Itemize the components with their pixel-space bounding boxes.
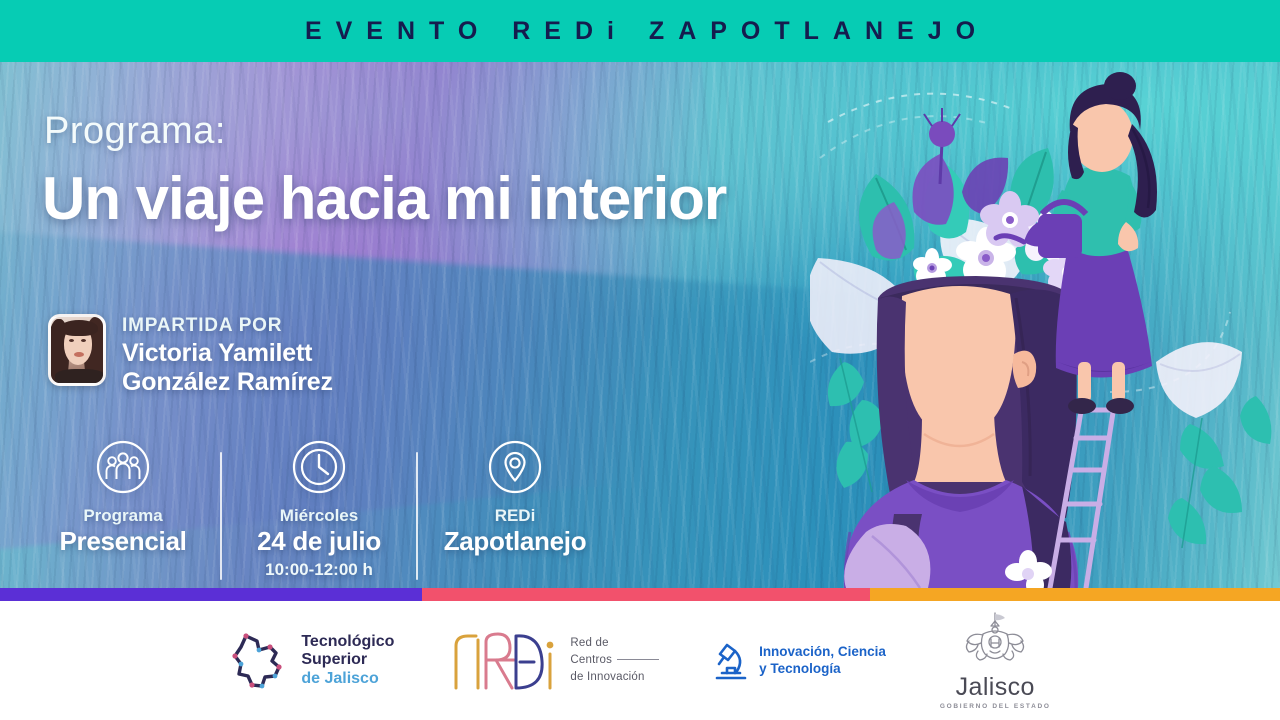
detail-location: REDi Zapotlanejo (432, 434, 598, 557)
top-banner-text: EVENTO REDi ZAPOTLANEJO (291, 17, 989, 46)
redi-line3: de Innovación (570, 669, 659, 686)
ict-line1: Innovación, Ciencia (759, 644, 886, 661)
avatar-eye-left (69, 339, 74, 342)
speaker-block: IMPARTIDA POR Victoria Yamilett González… (48, 314, 333, 397)
event-flyer: EVENTO REDi ZAPOTLANEJO (0, 0, 1280, 720)
page-title: Un viaje hacia mi interior (42, 164, 726, 233)
detail-location-sub: REDi (432, 506, 598, 526)
tsj-line3: de Jalisco (301, 670, 394, 688)
avatar-shoulders (55, 369, 105, 385)
stripe-segment-pink (422, 588, 870, 601)
speaker-name-line1: Victoria Yamilett (122, 339, 333, 368)
detail-date: Miércoles 24 de julio 10:00-12:00 h (236, 434, 402, 580)
redi-line2: Centros (570, 654, 612, 666)
avatar (48, 314, 106, 386)
logo-tecnologico-superior-de-jalisco: Tecnológico Superior de Jalisco (229, 628, 394, 694)
detail-modality-sub: Programa (40, 506, 206, 526)
top-banner: EVENTO REDi ZAPOTLANEJO (0, 0, 1280, 62)
program-kicker: Programa: (44, 110, 226, 153)
jalisco-coat-of-arms-icon (958, 611, 1032, 667)
divider-1 (220, 452, 222, 580)
detail-date-sub: Miércoles (236, 506, 402, 526)
redi-rule (617, 659, 659, 660)
avatar-eye-right (81, 339, 86, 342)
jalisco-name: Jalisco (940, 673, 1051, 702)
people-group-icon (40, 434, 206, 500)
logo-redi: Red de Centros de Innovación (448, 628, 659, 694)
logo-jalisco-gobierno: Jalisco GOBIERNO DEL ESTADO (940, 611, 1051, 710)
avatar-fringe (60, 320, 98, 336)
tsj-line2: Superior (301, 651, 394, 669)
avatar-lips (74, 352, 84, 357)
hero-section: Programa: Un viaje hacia mi interior IMP… (0, 62, 1280, 588)
speaker-name-line2: González Ramírez (122, 368, 333, 397)
redi-line1: Red de (570, 635, 659, 652)
location-pin-icon (432, 434, 598, 500)
jalisco-subtitle: GOBIERNO DEL ESTADO (940, 703, 1051, 710)
jalisco-map-dots-icon (229, 628, 291, 694)
clock-icon (236, 434, 402, 500)
logo-innovacion-ciencia-tecnologia: Innovación, Ciencia y Tecnología (713, 640, 886, 682)
detail-modality: Programa Presencial (40, 434, 206, 557)
tsj-line1: Tecnológico (301, 633, 394, 651)
detail-date-main: 24 de julio (236, 526, 402, 557)
speaker-label: IMPARTIDA POR (122, 316, 333, 337)
ict-line2: y Tecnología (759, 661, 886, 678)
color-stripe (0, 588, 1280, 601)
footer-logo-bar: Tecnológico Superior de Jalisco (0, 601, 1280, 720)
detail-modality-main: Presencial (40, 526, 206, 557)
event-details-row: Programa Presencial Miércoles 24 de juli… (40, 434, 598, 580)
detail-location-main: Zapotlanejo (432, 526, 598, 557)
redi-wordmark-icon (448, 628, 560, 694)
divider-2 (416, 452, 418, 580)
stripe-segment-orange (870, 588, 1280, 601)
detail-date-time: 10:00-12:00 h (236, 560, 402, 580)
microscope-icon (713, 640, 749, 682)
stripe-segment-purple (0, 588, 422, 601)
